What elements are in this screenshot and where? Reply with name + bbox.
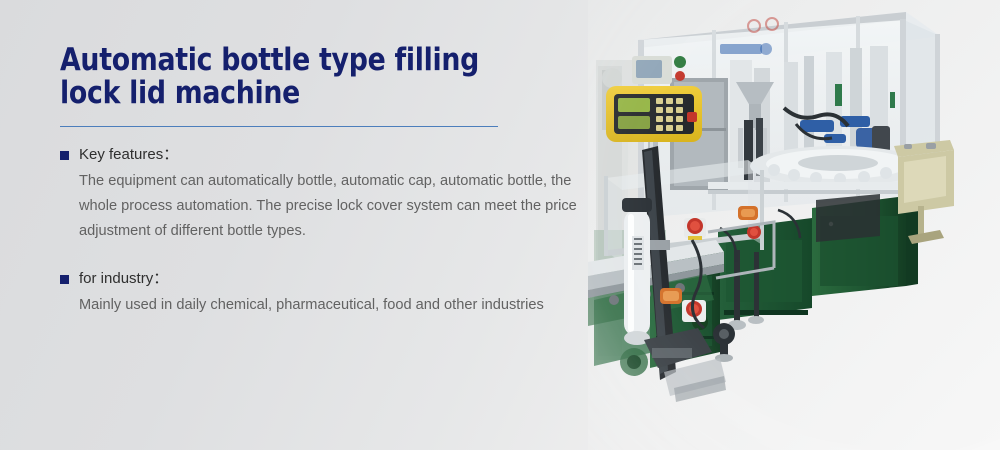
product-banner: Automatic bottle type filling lock lid m…	[0, 0, 1000, 450]
square-bullet-icon	[60, 151, 69, 160]
feature-body-text: The equipment can automatically bottle, …	[79, 169, 591, 244]
machine-photo-fade-mask	[588, 0, 1000, 450]
machine-photo	[588, 0, 1000, 450]
machine-illustration	[588, 0, 1000, 450]
feature-body-text: Mainly used in daily chemical, pharmaceu…	[79, 293, 591, 318]
title-divider	[60, 126, 498, 127]
feature-heading-row: Key features：	[60, 145, 605, 165]
feature-heading-label: Key features：	[79, 145, 178, 165]
indicator-lamp-green	[674, 56, 686, 68]
panel-red-button	[687, 112, 697, 122]
square-bullet-icon	[60, 275, 69, 284]
page-title: Automatic bottle type filling lock lid m…	[60, 44, 583, 110]
feature-block-key-features: Key features： The equipment can automati…	[60, 145, 605, 244]
feature-heading-label: for industry：	[79, 269, 168, 289]
machine-logo	[720, 43, 772, 55]
indicator-lamp-red	[675, 71, 685, 81]
feature-block-for-industry: for industry： Mainly used in daily chemi…	[60, 269, 605, 318]
estop-1	[684, 218, 706, 240]
text-column: Automatic bottle type filling lock lid m…	[60, 44, 605, 318]
control-panel-display	[618, 98, 650, 112]
feature-heading-row: for industry：	[60, 269, 605, 289]
pneumatic-cylinder-front	[622, 198, 652, 345]
